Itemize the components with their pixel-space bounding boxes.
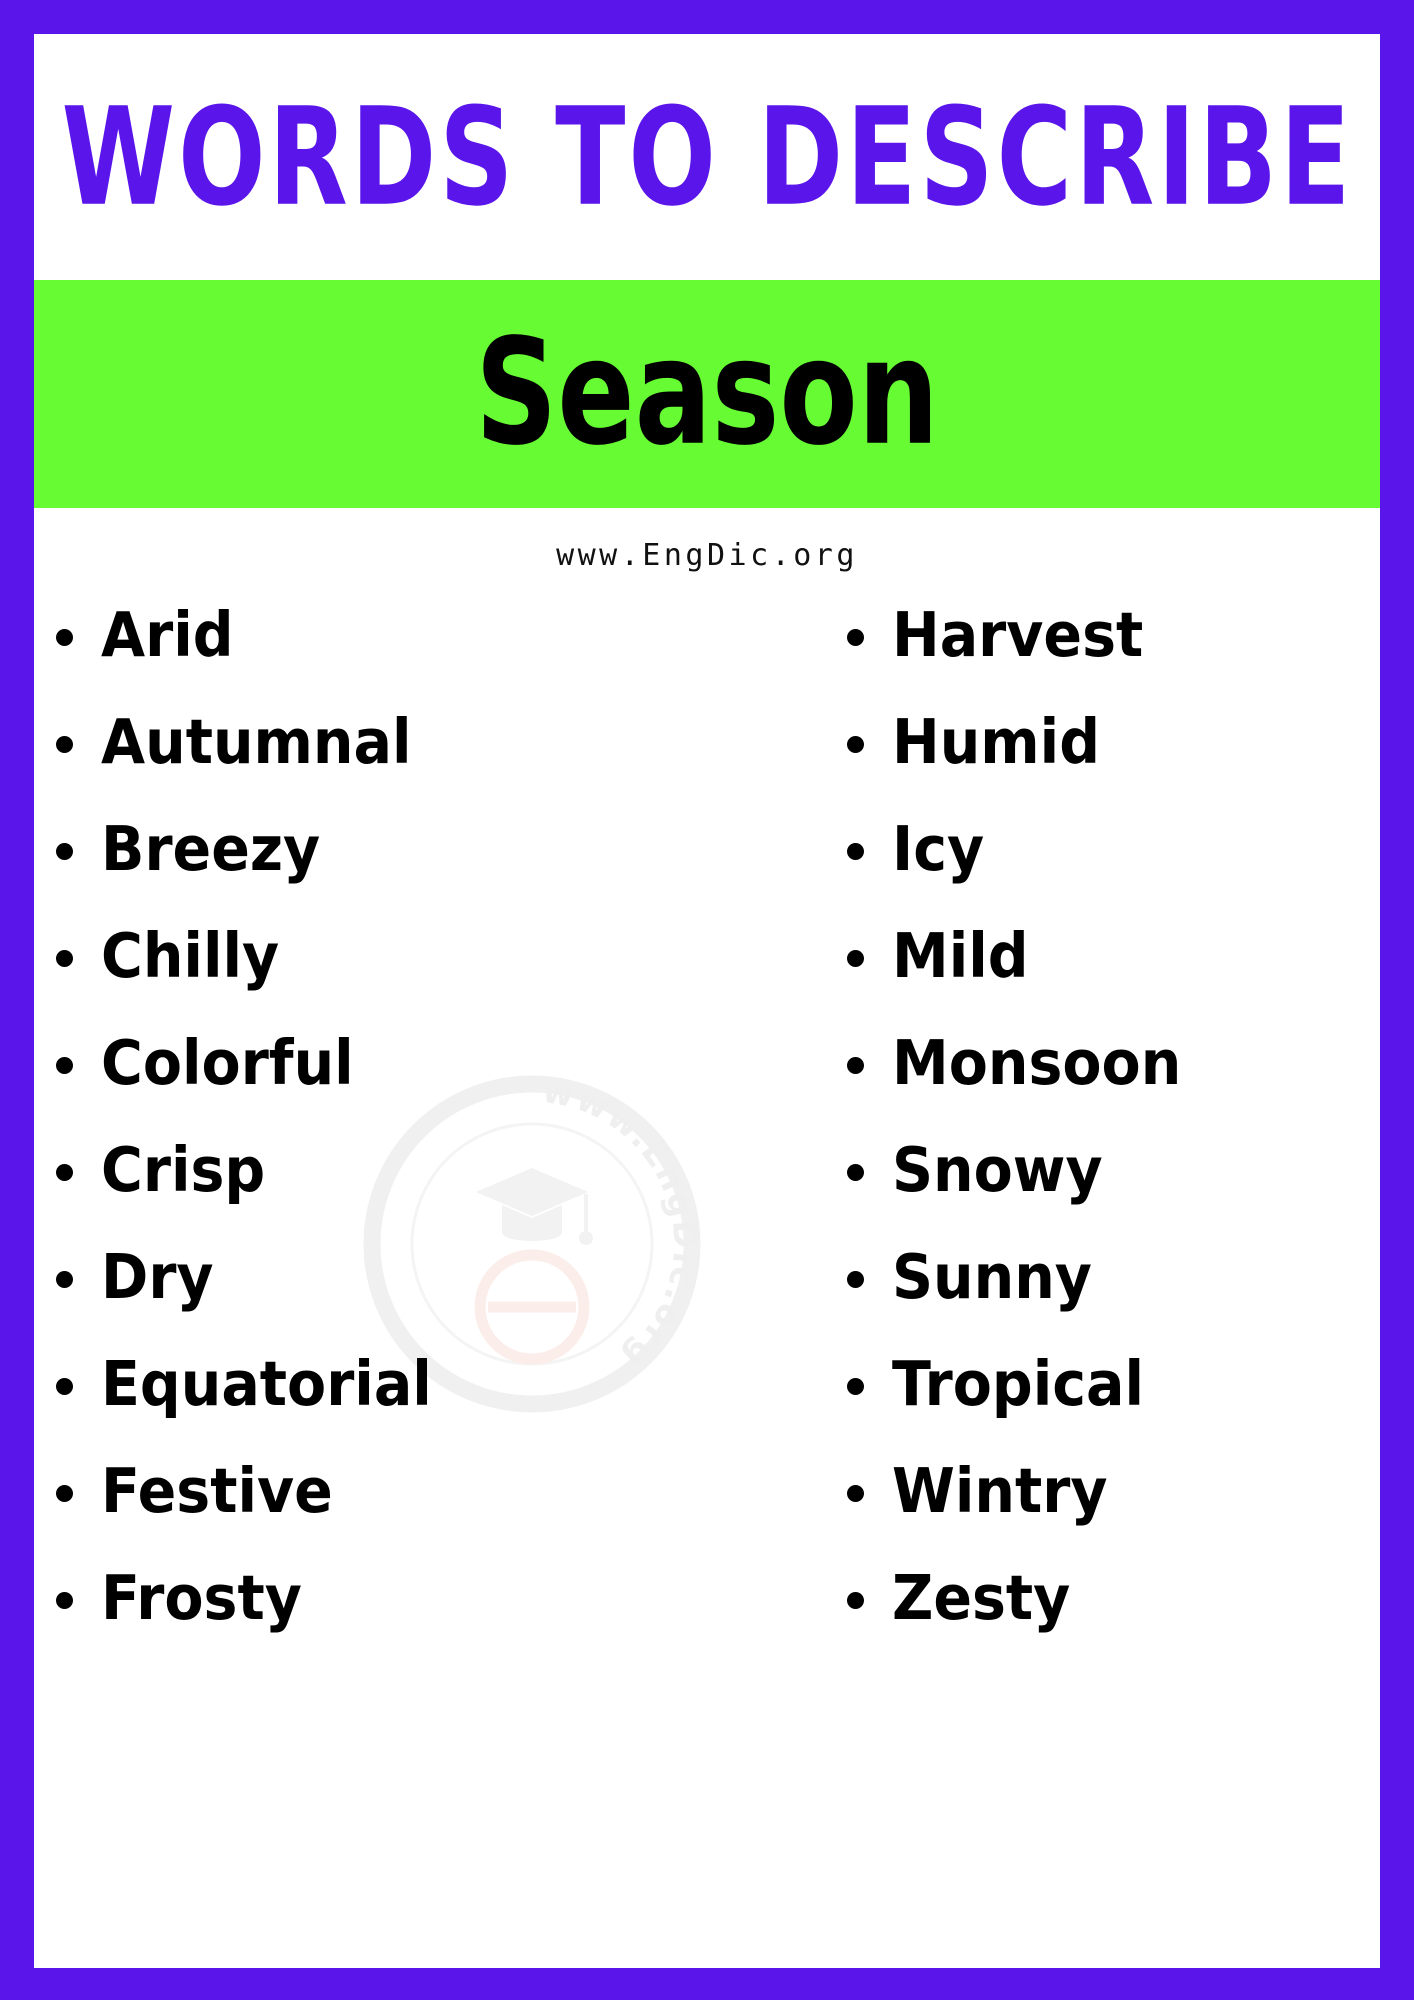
subject-title: Season <box>475 321 939 467</box>
bullet-icon <box>847 1164 864 1181</box>
bullet-icon <box>56 1378 73 1395</box>
word-label: Dry <box>101 1247 214 1309</box>
list-item: Wintry <box>847 1466 1380 1573</box>
list-item: Humid <box>847 717 1380 824</box>
bullet-icon <box>56 950 73 967</box>
word-label: Autumnal <box>101 712 412 774</box>
subject-banner: Season <box>34 280 1380 508</box>
word-label: Humid <box>892 712 1100 774</box>
list-item: Harvest <box>847 610 1380 717</box>
word-column-right: Harvest Humid Icy Mild Monsoon <box>707 610 1380 1680</box>
bullet-icon <box>847 629 864 646</box>
list-item: Tropical <box>847 1359 1380 1466</box>
list-item: Icy <box>847 824 1380 931</box>
list-item: Chilly <box>56 931 707 1038</box>
bullet-icon <box>56 1057 73 1074</box>
bullet-icon <box>847 1485 864 1502</box>
list-item: Sunny <box>847 1252 1380 1359</box>
word-label: Crisp <box>101 1140 265 1202</box>
word-label: Harvest <box>892 605 1143 667</box>
list-item: Festive <box>56 1466 707 1573</box>
list-item: Dry <box>56 1252 707 1359</box>
word-label: Arid <box>101 605 234 667</box>
poster-sheet: WORDS TO DESCRIBE Season www.EngDic.org … <box>34 34 1380 1968</box>
word-label: Sunny <box>892 1247 1092 1309</box>
page-title: WORDS TO DESCRIBE <box>61 89 1353 224</box>
word-label: Mild <box>892 926 1029 988</box>
list-item: Zesty <box>847 1573 1380 1680</box>
bullet-icon <box>56 1485 73 1502</box>
website-section: www.EngDic.org <box>34 508 1380 602</box>
word-label: Tropical <box>892 1354 1144 1416</box>
word-label: Monsoon <box>892 1033 1181 1095</box>
list-item: Monsoon <box>847 1038 1380 1145</box>
bullet-icon <box>847 1271 864 1288</box>
website-url: www.EngDic.org <box>556 538 858 573</box>
word-label: Chilly <box>101 926 279 988</box>
bullet-icon <box>847 1057 864 1074</box>
bullet-icon <box>56 1271 73 1288</box>
bullet-icon <box>847 843 864 860</box>
list-item: Mild <box>847 931 1380 1038</box>
word-label: Festive <box>101 1461 333 1523</box>
list-item: Breezy <box>56 824 707 931</box>
list-item: Equatorial <box>56 1359 707 1466</box>
bullet-icon <box>56 1592 73 1609</box>
word-label: Equatorial <box>101 1354 432 1416</box>
word-label: Snowy <box>892 1140 1103 1202</box>
bullet-icon <box>847 1592 864 1609</box>
word-column-left: Arid Autumnal Breezy Chilly Colorful <box>34 610 707 1680</box>
word-label: Icy <box>892 819 984 881</box>
bullet-icon <box>847 950 864 967</box>
list-item: Crisp <box>56 1145 707 1252</box>
bullet-icon <box>56 629 73 646</box>
word-label: Wintry <box>892 1461 1108 1523</box>
poster-root: WORDS TO DESCRIBE Season www.EngDic.org … <box>0 0 1414 2000</box>
title-section: WORDS TO DESCRIBE <box>34 34 1380 280</box>
list-item: Snowy <box>847 1145 1380 1252</box>
bullet-icon <box>56 1164 73 1181</box>
word-label: Breezy <box>101 819 320 881</box>
bullet-icon <box>56 843 73 860</box>
word-label: Frosty <box>101 1568 302 1630</box>
list-item: Colorful <box>56 1038 707 1145</box>
list-item: Frosty <box>56 1573 707 1680</box>
word-label: Colorful <box>101 1033 354 1095</box>
bullet-icon <box>56 736 73 753</box>
bullet-icon <box>847 736 864 753</box>
list-item: Autumnal <box>56 717 707 824</box>
list-item: Arid <box>56 610 707 717</box>
word-label: Zesty <box>892 1568 1070 1630</box>
word-columns: Arid Autumnal Breezy Chilly Colorful <box>34 602 1380 1680</box>
bullet-icon <box>847 1378 864 1395</box>
